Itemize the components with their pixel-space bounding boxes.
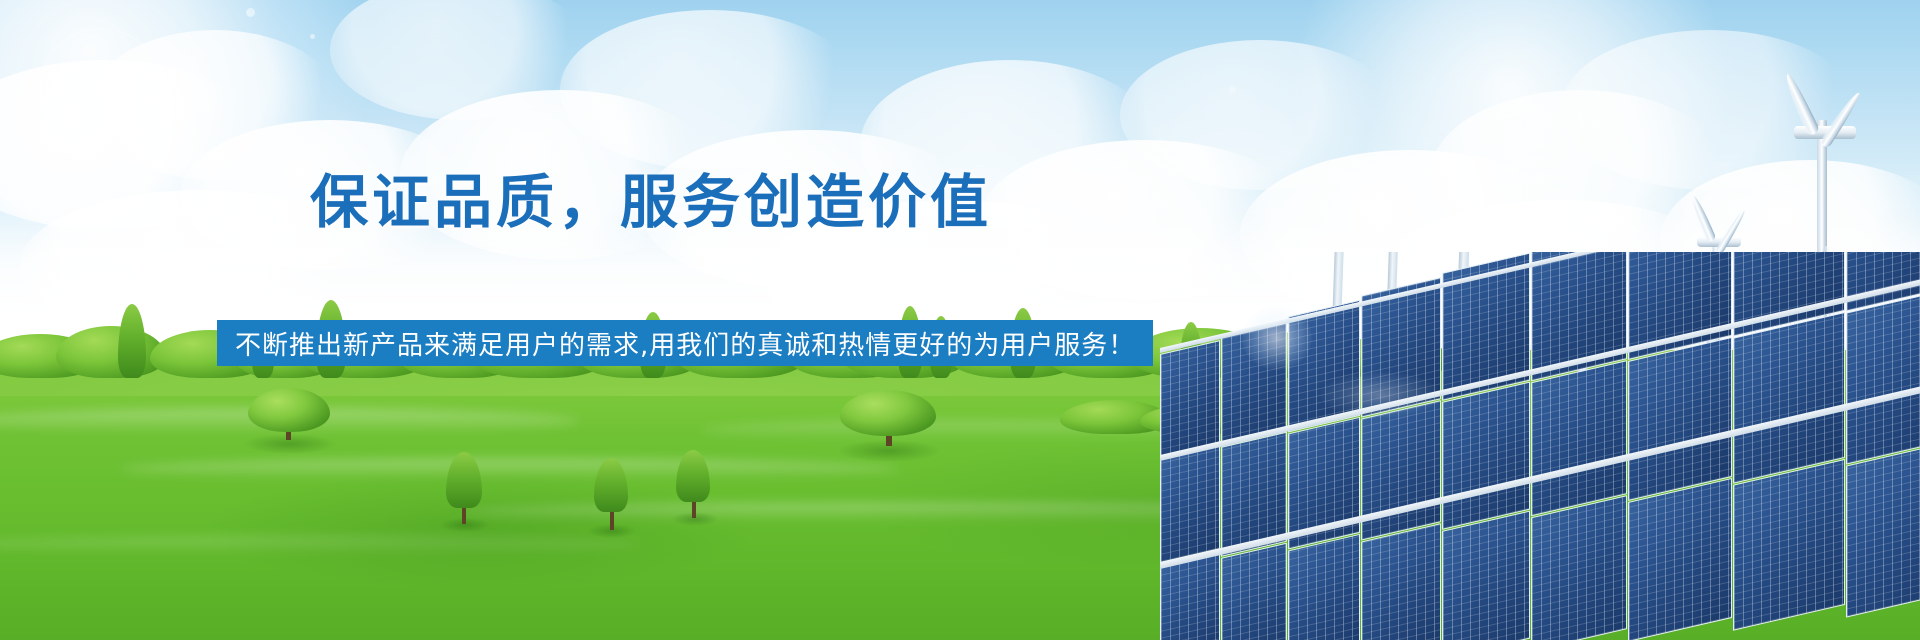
solar-cell-panel [1628,337,1732,501]
lens-flare-dot [246,8,255,17]
shrub [56,326,166,378]
cypress-tree [118,304,146,378]
page-title: 保证品质，服务创造价值 [310,172,992,233]
solar-panel-array [1150,252,1920,640]
solar-cell-panel [1531,360,1627,516]
lens-flare-dot [310,34,315,39]
tree [248,388,330,432]
hero-banner: 保证品质，服务创造价值 不断推出新产品来满足用户的需求,用我们的真诚和热情更好的… [0,0,1920,640]
solar-cell-panel [1160,340,1220,458]
turbine-blade [1715,208,1748,255]
tree [840,390,936,436]
solar-cell-panel [1846,285,1920,465]
solar-cell-panel [1531,495,1627,640]
solar-cell-panel [1733,312,1845,484]
solar-cell-panel [1288,534,1360,640]
solar-cell-panel [1442,382,1530,530]
solar-cell-panel [1628,478,1732,640]
subtitle-text: 不断推出新产品来满足用户的需求,用我们的真诚和热情更好的为用户服务！ [235,325,1135,362]
solar-cell-panel [1221,543,1287,640]
solar-glare [1320,372,1440,418]
solar-glare [1242,306,1312,370]
solar-cell-panel [1442,511,1530,640]
solar-cell-panel [1733,459,1845,631]
solar-cell-panel [1361,523,1441,640]
solar-cell-panel [1846,438,1920,618]
subtitle-banner: 不断推出新产品来满足用户的需求,用我们的真诚和热情更好的为用户服务！ [217,320,1153,366]
solar-cell-panel [1160,445,1220,563]
